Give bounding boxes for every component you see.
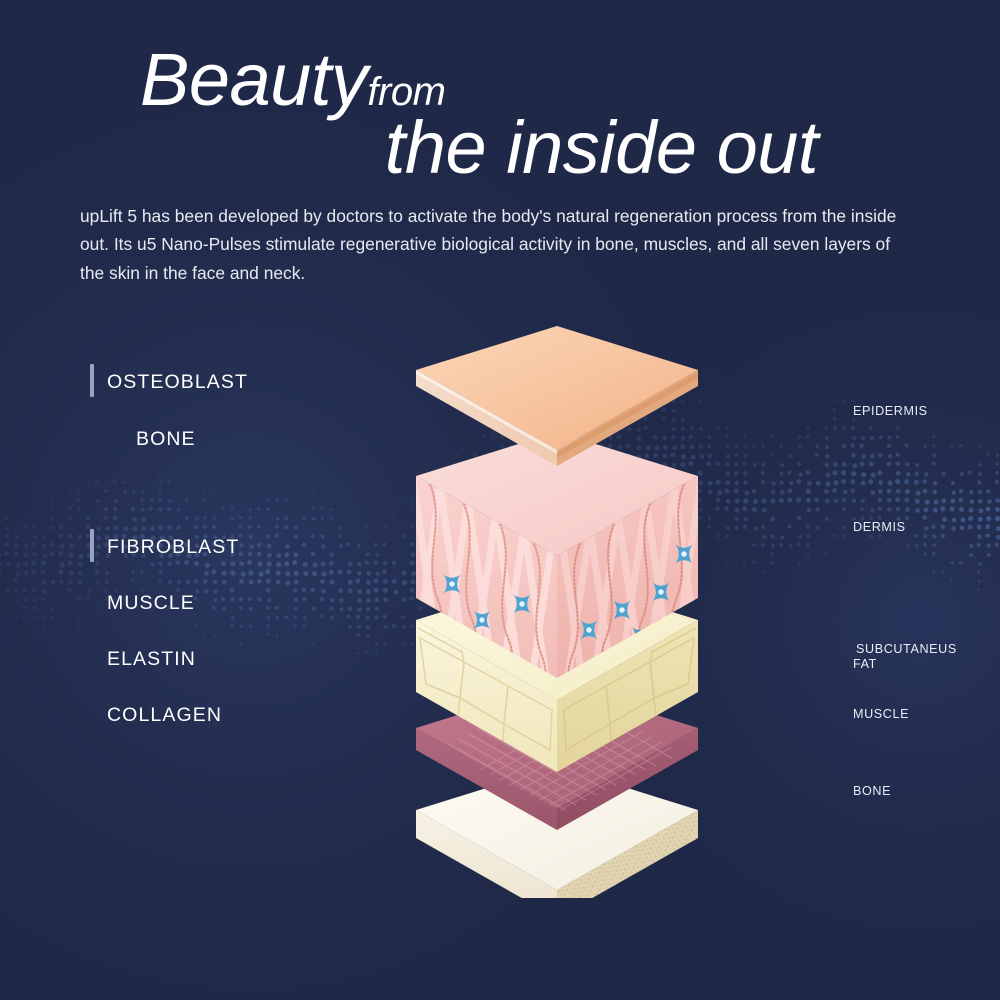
left-label-column: OSTEOBLASTBONEFIBROBLASTMUSCLEELASTINCOL… [0,0,400,1000]
right-label-muscle: MUSCLE [853,707,909,723]
layer-epidermis [416,326,698,466]
accent-bar-icon [90,529,94,562]
left-label-text: ELASTIN [107,648,196,670]
left-label-collagen: COLLAGEN [107,704,222,727]
left-label-text: MUSCLE [107,592,195,614]
left-label-fibroblast: FIBROBLAST [107,536,239,559]
left-label-text: OSTEOBLAST [107,371,248,393]
left-label-elastin: ELASTIN [107,648,196,671]
title-line-two: the inside out [385,106,818,189]
left-label-text: COLLAGEN [107,704,222,726]
right-label-bone: BONE [853,784,891,800]
right-label-dermis: DERMIS [853,520,906,536]
left-label-text: FIBROBLAST [107,536,239,558]
left-label-bone: BONE [136,428,196,451]
left-label-text: BONE [136,428,196,450]
left-label-osteoblast: OSTEOBLAST [107,371,248,394]
left-label-muscle: MUSCLE [107,592,195,615]
skin-layers-illustration [398,318,850,898]
accent-bar-icon [90,364,94,397]
right-label-epidermis: EPIDERMIS [853,404,928,420]
right-label-column: EPIDERMISDERMISSUBCUTANEUSFATMUSCLEBONE [840,0,1000,1000]
right-label-fat: FAT [853,657,877,673]
right-label-subcutaneus: SUBCUTANEUS [856,642,957,658]
